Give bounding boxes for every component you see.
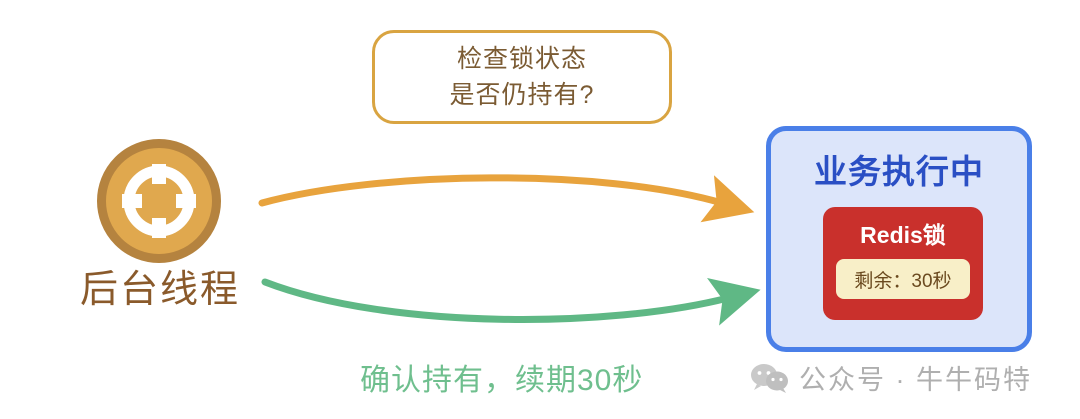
check-lock-arrow	[262, 178, 722, 203]
redis-lock-box: Redis锁 剩余：30秒	[823, 207, 983, 320]
lock-ttl-badge: 剩余：30秒	[836, 259, 970, 299]
renew-lock-arrow	[265, 282, 728, 319]
background-thread-label: 后台线程	[60, 258, 260, 313]
wechat-icon	[750, 363, 790, 393]
redis-lock-label: Redis锁	[823, 216, 983, 250]
diagram-canvas: 检查锁状态 是否仍持有? 后台线程 确认持有，续期30秒	[0, 0, 1080, 419]
callout-line-1: 检查锁状态	[457, 42, 587, 76]
callout-line-2: 是否仍持有?	[450, 78, 595, 112]
watermark-text: 公众号 · 牛牛码特	[799, 358, 1032, 397]
lifebuoy-icon	[121, 163, 197, 239]
business-executing-box: 业务执行中 Redis锁 剩余：30秒	[766, 126, 1032, 352]
renew-arrow-label: 确认持有，续期30秒	[360, 355, 643, 399]
check-lock-callout: 检查锁状态 是否仍持有?	[372, 30, 672, 124]
lock-ttl-text: 剩余：30秒	[854, 266, 951, 293]
watermark: 公众号 · 牛牛码特	[750, 358, 1032, 397]
background-thread-avatar	[97, 139, 221, 263]
business-executing-title: 业务执行中	[771, 145, 1027, 193]
